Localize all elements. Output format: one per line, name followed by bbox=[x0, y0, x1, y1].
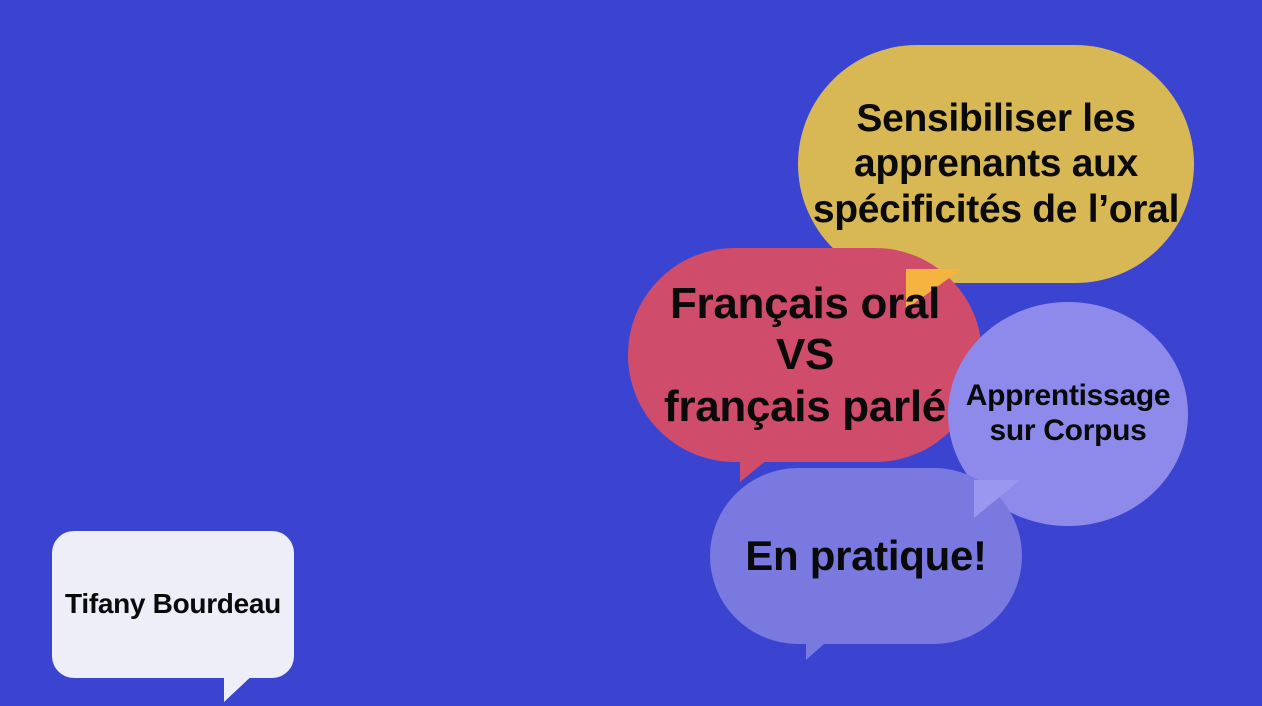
bubble-text-pratique: En pratique! bbox=[735, 532, 996, 581]
bubble-tail-francais bbox=[740, 446, 784, 482]
bubble-text-corpus: Apprentissage sur Corpus bbox=[958, 379, 1179, 449]
bubble-text-author: Tifany Bourdeau bbox=[59, 588, 287, 620]
bubble-text-sensibiliser: Sensibiliser les apprenants aux spécific… bbox=[799, 96, 1193, 232]
bubble-tail-author bbox=[224, 670, 258, 702]
bubble-tail-pratique bbox=[806, 628, 842, 660]
presentation-slide: Sensibiliser les apprenants aux spécific… bbox=[0, 0, 1262, 706]
speech-bubble-apprentissage-sur-corpus[interactable]: Apprentissage sur Corpus bbox=[948, 302, 1188, 526]
bubble-text-francais: Français oral VS français parlé bbox=[628, 278, 982, 431]
speech-bubble-author[interactable]: Tifany Bourdeau bbox=[52, 531, 294, 678]
bubble-tail-corpus bbox=[974, 480, 1020, 518]
speech-bubble-francais-oral-vs-parle[interactable]: Français oral VS français parlé bbox=[628, 248, 982, 462]
